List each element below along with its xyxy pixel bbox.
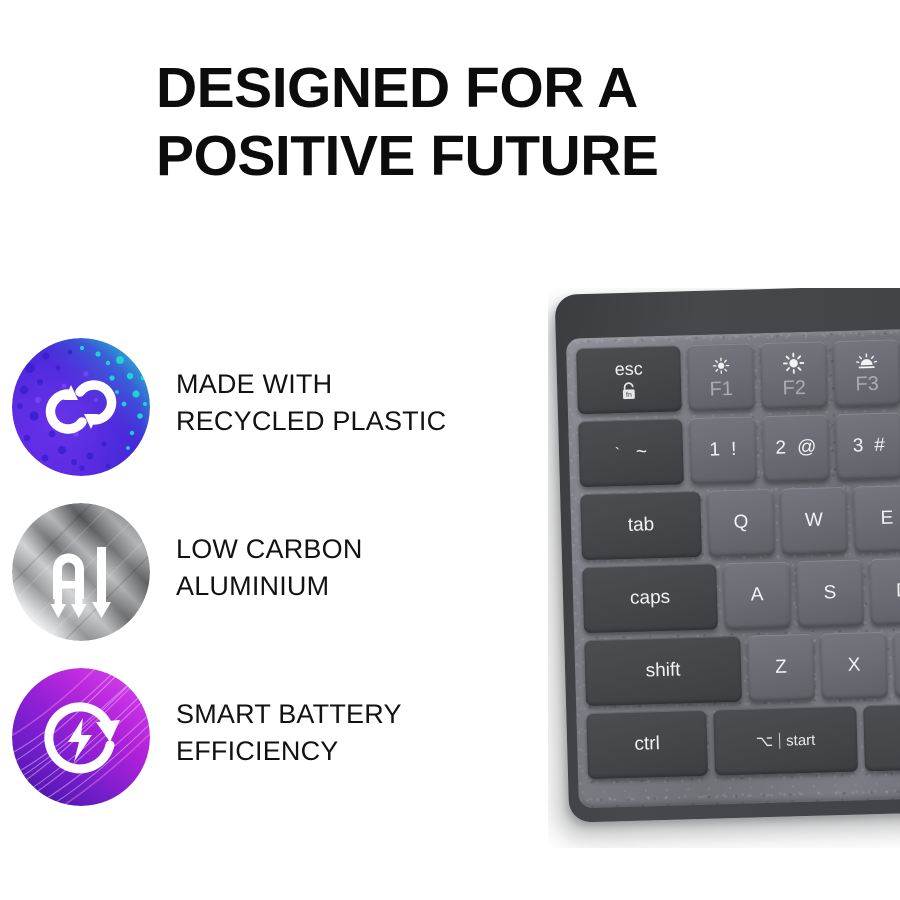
key-w[interactable]: W	[780, 487, 848, 555]
key-x[interactable]: X	[820, 632, 888, 700]
smart-battery-efficiency-icon	[12, 668, 150, 806]
keyboard-row-qwerty: tab Q W E	[580, 483, 900, 560]
wireless-keyboard: esc fn	[548, 288, 900, 834]
brightness-down-icon	[711, 356, 731, 376]
keyboard-key-grid: esc fn	[576, 337, 900, 786]
feature-label-line-2: ALUMINIUM	[176, 568, 506, 605]
keyboard-row-modifiers: ctrl ⌥ start ⌘	[586, 702, 900, 779]
key-ctrl[interactable]: ctrl	[586, 710, 708, 779]
key-f1[interactable]: F1	[687, 343, 755, 411]
key-f3-label: F3	[855, 373, 879, 394]
keyboard-row-shift: shift Z X	[584, 629, 900, 706]
key-esc-label: esc	[614, 359, 643, 378]
key-d[interactable]: D	[869, 557, 900, 625]
low-carbon-aluminium-icon	[12, 503, 150, 641]
key-z[interactable]: Z	[747, 634, 815, 702]
headline-line-2: POSITIVE FUTURE	[156, 122, 796, 190]
feature-label-line-1: SMART BATTERY	[176, 696, 506, 733]
keyboard-product-image: esc fn	[548, 288, 900, 848]
key-2-primary: 2	[775, 437, 786, 459]
key-c[interactable]	[893, 630, 900, 698]
key-shift[interactable]: shift	[584, 636, 742, 706]
key-tab[interactable]: tab	[580, 491, 702, 560]
key-x-label: X	[847, 654, 860, 676]
key-f2-label: F2	[782, 378, 806, 399]
keyboard-row-function: esc fn	[576, 337, 900, 414]
key-2[interactable]: 2 @	[762, 414, 830, 482]
page-title: DESIGNED FOR A POSITIVE FUTURE	[156, 54, 796, 190]
option-icon: ⌥	[756, 732, 774, 750]
recycled-plastic-icon	[12, 338, 150, 476]
brightness-up-icon	[782, 352, 805, 375]
key-s-label: S	[823, 582, 836, 604]
feature-label-smart-battery-efficiency: SMART BATTERY EFFICIENCY	[176, 696, 506, 770]
key-shift-label: shift	[645, 660, 680, 683]
key-e[interactable]: E	[853, 485, 900, 553]
key-grave-secondary: ~	[636, 441, 648, 463]
key-start-label: start	[786, 731, 816, 749]
key-f1-label: F1	[709, 378, 733, 399]
feature-item-low-carbon-aluminium: LOW CARBON ALUMINIUM	[0, 495, 520, 660]
key-w-label: W	[805, 509, 824, 531]
key-2-secondary: @	[797, 437, 817, 460]
keyboard-row-home: caps A S D	[582, 556, 900, 633]
key-alt[interactable]: ⌘ alt	[863, 701, 900, 771]
key-d-label: D	[896, 580, 900, 602]
product-feature-panel: DESIGNED FOR A POSITIVE FUTURE	[0, 0, 900, 900]
keyboard-row-numbers: ` ~ 1 ! 2	[578, 410, 900, 487]
key-f2[interactable]: F2	[760, 341, 828, 409]
feature-label-recycled-plastic: MADE WITH RECYCLED PLASTIC	[176, 366, 506, 440]
key-caps[interactable]: caps	[582, 563, 718, 633]
key-s[interactable]: S	[796, 559, 864, 627]
feature-label-line-1: MADE WITH	[176, 366, 506, 403]
feature-item-smart-battery-efficiency: SMART BATTERY EFFICIENCY	[0, 660, 520, 825]
key-1[interactable]: 1 !	[689, 416, 757, 484]
backlight-icon	[855, 352, 877, 370]
key-q[interactable]: Q	[707, 489, 775, 557]
key-a[interactable]: A	[723, 561, 791, 629]
key-start[interactable]: ⌥ start	[713, 706, 858, 776]
feature-label-line-2: RECYCLED PLASTIC	[176, 403, 506, 440]
key-caps-label: caps	[630, 587, 671, 610]
key-1-primary: 1	[709, 439, 720, 461]
key-ctrl-label: ctrl	[634, 733, 660, 756]
feature-label-line-1: LOW CARBON	[176, 531, 506, 568]
headline-line-1: DESIGNED FOR A	[156, 54, 796, 122]
lock-fn-icon: fn	[621, 381, 639, 400]
feature-label-low-carbon-aluminium: LOW CARBON ALUMINIUM	[176, 531, 506, 605]
key-q-label: Q	[733, 512, 748, 534]
key-esc[interactable]: esc fn	[576, 345, 682, 414]
key-3-secondary: #	[874, 435, 885, 457]
key-grave-primary: `	[615, 445, 620, 462]
feature-label-line-2: EFFICIENCY	[176, 733, 506, 770]
key-3-primary: 3	[853, 435, 864, 457]
key-1-secondary: !	[731, 439, 737, 461]
key-f3[interactable]: F3	[833, 339, 900, 407]
key-a-label: A	[750, 584, 763, 606]
feature-item-recycled-plastic: MADE WITH RECYCLED PLASTIC	[0, 330, 520, 495]
feature-list: MADE WITH RECYCLED PLASTIC	[0, 330, 520, 825]
key-3[interactable]: 3 #	[835, 412, 900, 480]
key-grave[interactable]: ` ~	[578, 418, 684, 487]
key-tab-label: tab	[628, 514, 655, 537]
key-e-label: E	[880, 508, 893, 530]
key-z-label: Z	[775, 657, 787, 679]
svg-text:fn: fn	[626, 391, 632, 398]
key-separator	[779, 733, 780, 749]
